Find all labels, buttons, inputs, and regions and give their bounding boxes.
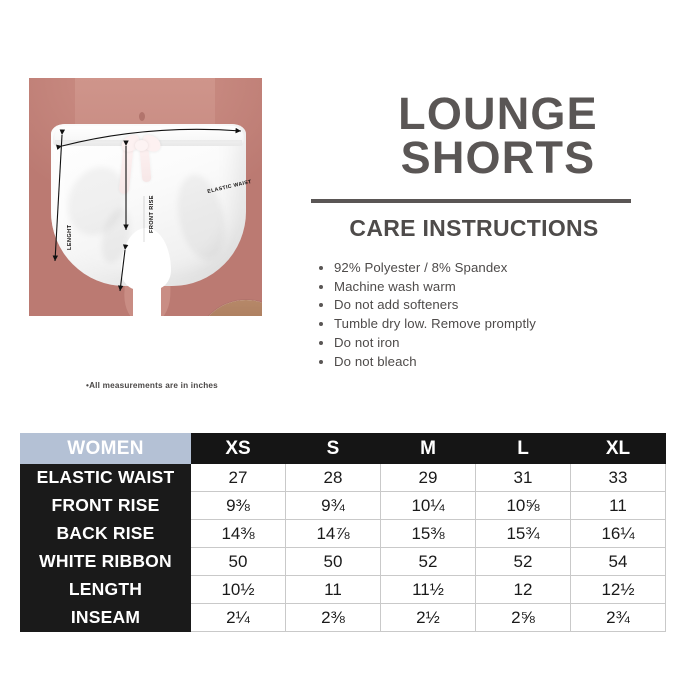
table-row: ELASTIC WAIST 27 28 29 31 33: [21, 464, 666, 492]
table-body: ELASTIC WAIST 27 28 29 31 33 FRONT RISE …: [21, 464, 666, 632]
list-item: Do not iron: [318, 334, 658, 353]
bullet-icon: [319, 285, 323, 289]
measurement-cell: 2⅝: [476, 604, 571, 632]
row-label: INSEAM: [21, 604, 191, 632]
back-rise-arrow: [195, 300, 262, 316]
bullet-icon: [319, 322, 323, 326]
measurement-cell: 11: [286, 576, 381, 604]
care-item-text: Do not bleach: [334, 354, 417, 369]
bullet-icon: [319, 266, 323, 270]
table-header-row: WOMEN XS S M L XL: [21, 434, 666, 464]
measurement-cell: 9⅜: [191, 492, 286, 520]
care-instructions-list: 92% Polyester / 8% Spandex Machine wash …: [318, 259, 658, 371]
care-instructions-heading: CARE INSTRUCTIONS: [309, 215, 639, 242]
table-corner-label: WOMEN: [21, 434, 191, 464]
column-header-xs: XS: [191, 434, 286, 464]
measurement-cell: 16¼: [571, 520, 666, 548]
measurement-cell: 28: [286, 464, 381, 492]
list-item: Tumble dry low. Remove promptly: [318, 315, 658, 334]
top-section: ELASTIC WAIST FRONT RISE LENGHT INSEAM B…: [0, 0, 700, 420]
list-item: Do not add softeners: [318, 296, 658, 315]
measurement-cell: 10⅝: [476, 492, 571, 520]
annotation-length: LENGHT: [67, 225, 73, 250]
measurement-cell: 2⅜: [286, 604, 381, 632]
column-header-xl: XL: [571, 434, 666, 464]
measurement-cell: 2½: [381, 604, 476, 632]
page-title: LOUNGE SHORTS: [312, 92, 684, 180]
measurement-cell: 2¾: [571, 604, 666, 632]
bullet-icon: [319, 341, 323, 345]
annotation-front-rise: FRONT RISE: [149, 195, 155, 233]
list-item: Machine wash warm: [318, 278, 658, 297]
table-row: BACK RISE 14⅜ 14⅞ 15⅜ 15¾ 16¼: [21, 520, 666, 548]
row-label: WHITE RIBBON: [21, 548, 191, 576]
size-chart-table: WOMEN XS S M L XL ELASTIC WAIST 27 28 29…: [20, 433, 666, 632]
row-label: BACK RISE: [21, 520, 191, 548]
measurement-cell: 12: [476, 576, 571, 604]
measurement-cell: 31: [476, 464, 571, 492]
row-label: ELASTIC WAIST: [21, 464, 191, 492]
measurement-cell: 54: [571, 548, 666, 576]
measurement-cell: 52: [476, 548, 571, 576]
measurement-cell: 14⅞: [286, 520, 381, 548]
measurement-cell: 50: [191, 548, 286, 576]
care-item-text: Do not iron: [334, 335, 400, 350]
bullet-icon: [319, 360, 323, 364]
measurement-arrows: [29, 78, 262, 316]
measurement-cell: 50: [286, 548, 381, 576]
care-item-text: Tumble dry low. Remove promptly: [334, 316, 536, 331]
bullet-icon: [319, 303, 323, 307]
measurement-cell: 27: [191, 464, 286, 492]
measurement-cell: 52: [381, 548, 476, 576]
care-item-text: Machine wash warm: [334, 279, 456, 294]
list-item: Do not bleach: [318, 353, 658, 372]
measurements-footnote: •All measurements are in inches: [86, 381, 218, 390]
row-label: LENGTH: [21, 576, 191, 604]
size-chart-page: ELASTIC WAIST FRONT RISE LENGHT INSEAM B…: [0, 0, 700, 700]
title-line-2: SHORTS: [312, 136, 684, 180]
measurement-cell: 33: [571, 464, 666, 492]
size-chart-table-wrapper: WOMEN XS S M L XL ELASTIC WAIST 27 28 29…: [20, 433, 665, 632]
measurement-cell: 14⅜: [191, 520, 286, 548]
list-item: 92% Polyester / 8% Spandex: [318, 259, 658, 278]
column-header-s: S: [286, 434, 381, 464]
measurement-cell: 15¾: [476, 520, 571, 548]
measurement-cell: 10½: [191, 576, 286, 604]
row-label: FRONT RISE: [21, 492, 191, 520]
measurement-cell: 11: [571, 492, 666, 520]
column-header-m: M: [381, 434, 476, 464]
care-item-text: 92% Polyester / 8% Spandex: [334, 260, 507, 275]
table-row: INSEAM 2¼ 2⅜ 2½ 2⅝ 2¾: [21, 604, 666, 632]
product-diagram-image: ELASTIC WAIST FRONT RISE LENGHT INSEAM B…: [29, 78, 262, 316]
measurement-cell: 9¾: [286, 492, 381, 520]
column-header-l: L: [476, 434, 571, 464]
table-row: FRONT RISE 9⅜ 9¾ 10¼ 10⅝ 11: [21, 492, 666, 520]
measurement-cell: 2¼: [191, 604, 286, 632]
care-item-text: Do not add softeners: [334, 297, 458, 312]
back-view-inset: [195, 300, 262, 316]
table-row: LENGTH 10½ 11 11½ 12 12½: [21, 576, 666, 604]
measurement-cell: 15⅜: [381, 520, 476, 548]
measurement-cell: 11½: [381, 576, 476, 604]
measurement-cell: 29: [381, 464, 476, 492]
measurement-cell: 12½: [571, 576, 666, 604]
table-row: WHITE RIBBON 50 50 52 52 54: [21, 548, 666, 576]
measurement-cell: 10¼: [381, 492, 476, 520]
title-divider: [311, 199, 631, 203]
title-line-1: LOUNGE: [312, 92, 684, 136]
